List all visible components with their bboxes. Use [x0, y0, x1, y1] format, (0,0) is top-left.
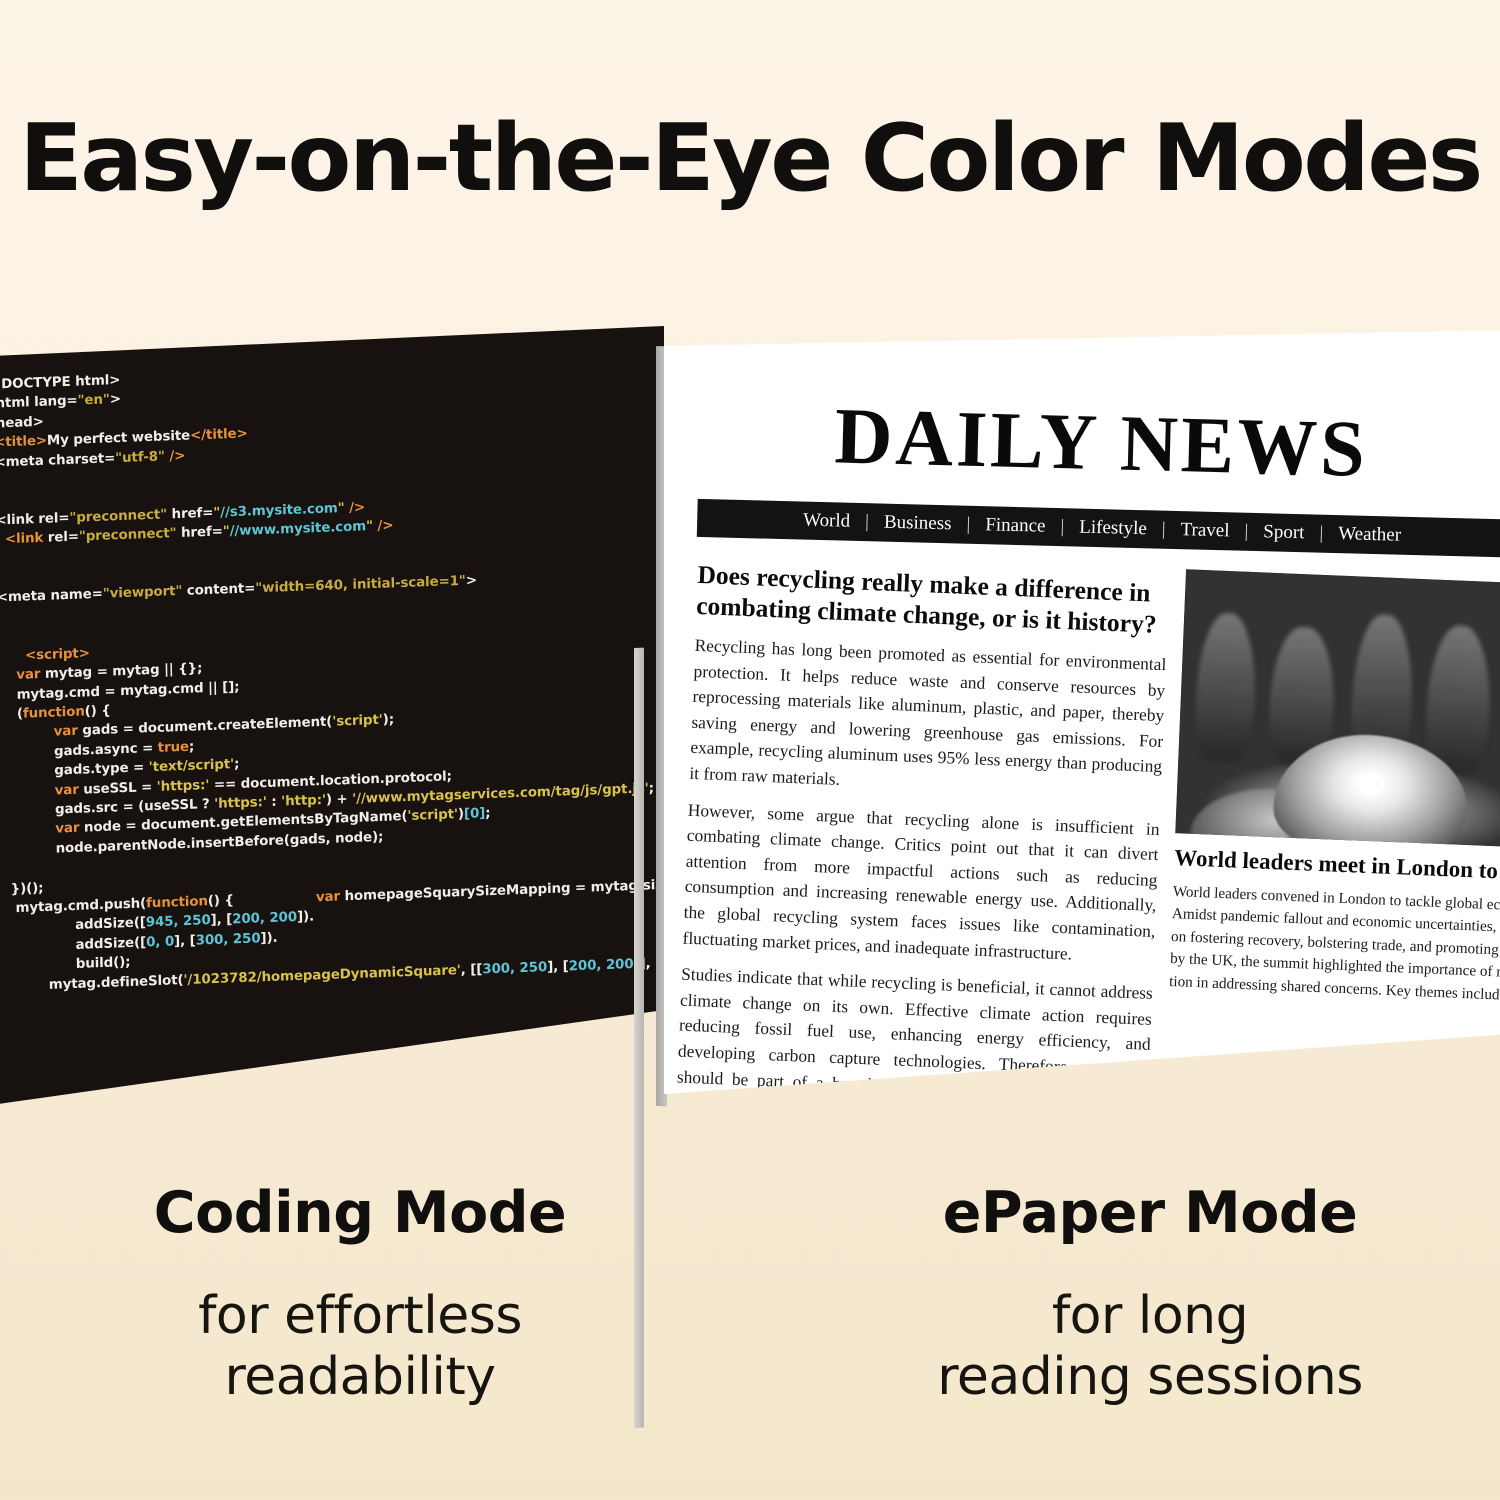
article-column-right: World leaders meet in London to discuss … — [1169, 569, 1500, 1008]
article-headline-london: World leaders meet in London to discuss … — [1174, 843, 1500, 887]
article-column-left: Does recycling really make a difference … — [675, 559, 1170, 1130]
coding-mode-screen: <!DOCTYPE html> <html lang="en"> <head> … — [0, 322, 664, 1122]
nav-item-lifestyle[interactable]: Lifestyle — [1064, 516, 1162, 540]
nav-item-travel[interactable]: Travel — [1165, 519, 1244, 543]
article-paragraph: Recycling has long been promoted as esse… — [689, 633, 1167, 806]
caption-coding-mode: Coding Mode for effortless readability — [60, 1184, 660, 1408]
caption-epaper-mode: ePaper Mode for long reading sessions — [840, 1184, 1460, 1408]
caption-subtitle-epaper: for long reading sessions — [840, 1286, 1460, 1408]
article-headline-recycling: Does recycling really make a difference … — [696, 559, 1170, 640]
nav-item-finance[interactable]: Finance — [970, 514, 1061, 538]
newspaper-page: DAILY NEWS World | Business | Finance | … — [664, 330, 1500, 1130]
epaper-mode-screen: DAILY NEWS World | Business | Finance | … — [664, 330, 1500, 1130]
caption-title-coding: Coding Mode — [60, 1184, 660, 1244]
code-editor-content: <!DOCTYPE html> <html lang="en"> <head> … — [0, 351, 664, 999]
page-title: Easy-on-the-Eye Color Modes — [0, 104, 1500, 212]
article-photo-recycling — [1175, 569, 1500, 848]
nav-item-business[interactable]: Business — [869, 511, 967, 535]
caption-title-epaper: ePaper Mode — [840, 1184, 1460, 1244]
article-paragraph: Studies indicate that while recycling is… — [675, 962, 1153, 1130]
nav-item-world[interactable]: World — [788, 509, 866, 533]
caption-subtitle-coding: for effortless readability — [60, 1286, 660, 1408]
coding-mode-device: <!DOCTYPE html> <html lang="en"> <head> … — [0, 322, 664, 1122]
newspaper-masthead: DAILY NEWS — [700, 393, 1500, 493]
nav-item-sport[interactable]: Sport — [1248, 521, 1320, 545]
nav-item-weather[interactable]: Weather — [1323, 523, 1416, 547]
article-paragraph: However, some argue that recycling alone… — [682, 797, 1160, 970]
newspaper-nav[interactable]: World | Business | Finance | Lifestyle |… — [697, 499, 1500, 557]
epaper-mode-device: DAILY NEWS World | Business | Finance | … — [650, 330, 1500, 1210]
